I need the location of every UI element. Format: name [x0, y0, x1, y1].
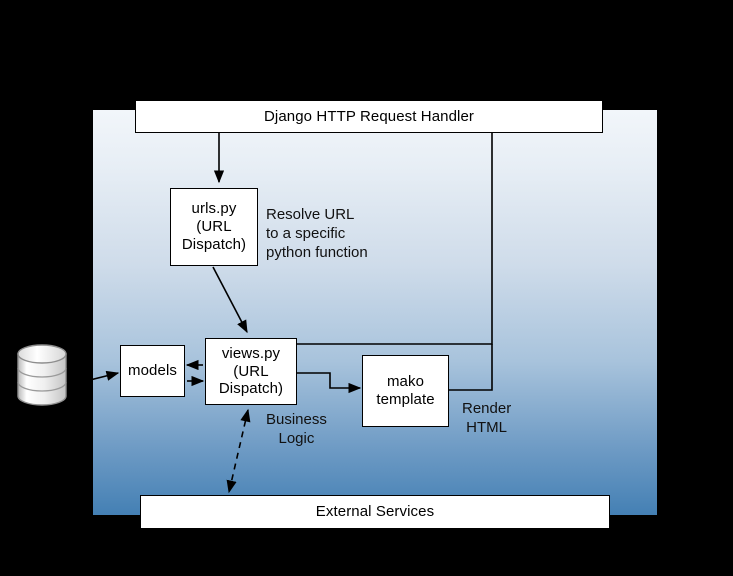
node-urls-py[interactable]: urls.py (URL Dispatch) — [170, 188, 258, 266]
node-views-line1: views.py — [219, 345, 283, 363]
database-cylinder-icon — [16, 344, 68, 406]
node-urls-line3: Dispatch) — [182, 236, 246, 254]
annotation-business-line2: Logic — [266, 429, 327, 448]
node-views-line2: (URL — [219, 363, 283, 381]
annotation-render-html: Render HTML — [462, 399, 511, 437]
annotation-resolve-url: Resolve URL to a specific python functio… — [266, 205, 368, 262]
node-views-line3: Dispatch) — [219, 380, 283, 398]
node-urls-line2: (URL — [182, 218, 246, 236]
node-django-label: Django HTTP Request Handler — [264, 108, 474, 126]
annotation-render-line2: HTML — [462, 418, 511, 437]
annotation-resolve-line3: python function — [266, 243, 368, 262]
node-mako-line2: template — [376, 391, 434, 409]
node-mako-template[interactable]: mako template — [362, 355, 449, 427]
annotation-resolve-line2: to a specific — [266, 224, 368, 243]
annotation-resolve-line1: Resolve URL — [266, 205, 368, 224]
node-models-label: models — [128, 362, 177, 380]
node-views-py[interactable]: views.py (URL Dispatch) — [205, 338, 297, 405]
gradient-backdrop-panel — [93, 110, 657, 515]
node-models[interactable]: models — [120, 345, 185, 397]
node-django-http-request-handler[interactable]: Django HTTP Request Handler — [135, 100, 603, 133]
node-external-services[interactable]: External Services — [140, 495, 610, 529]
node-mako-line1: mako — [376, 373, 434, 391]
annotation-business-logic: Business Logic — [266, 410, 327, 448]
annotation-business-line1: Business — [266, 410, 327, 429]
diagram-canvas: Django HTTP Request Handler urls.py (URL… — [0, 0, 733, 576]
annotation-render-line1: Render — [462, 399, 511, 418]
node-urls-line1: urls.py — [182, 200, 246, 218]
node-external-label: External Services — [316, 503, 434, 521]
